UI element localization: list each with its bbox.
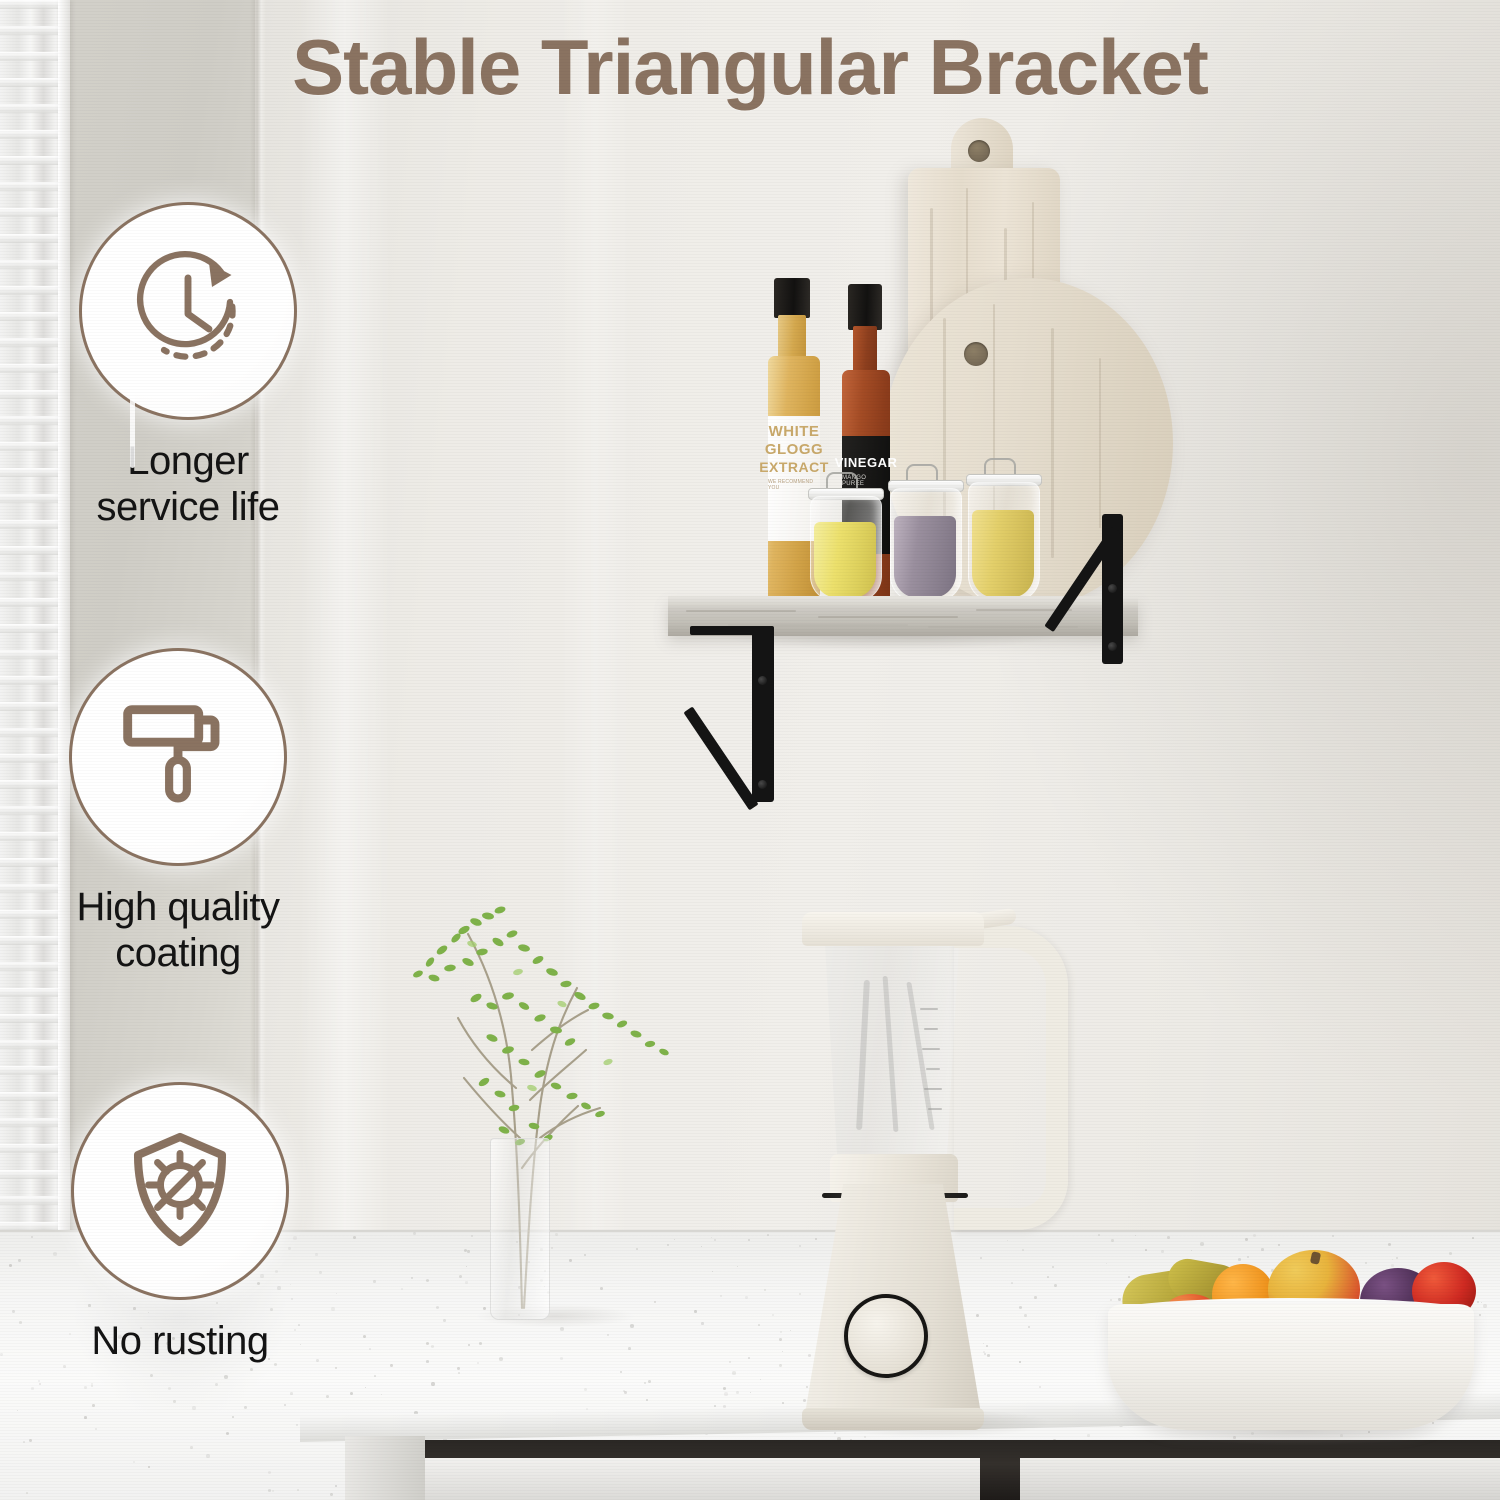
feature-label: No rusting (30, 1318, 330, 1364)
product-feature-image: Stable Triangular Bracket Longer service… (0, 0, 1500, 1500)
measure-tick (924, 1028, 938, 1030)
feature-label-line2: service life (38, 484, 338, 530)
cutting-board-round-hole (964, 342, 988, 366)
vase-highlight (130, 308, 135, 468)
feature-high-quality-coating: High quality coating (28, 648, 328, 977)
feature-label: High quality coating (28, 884, 328, 977)
paint-roller-icon (104, 683, 252, 831)
feature-label: Longer service life (38, 438, 338, 531)
shelf-bracket-left (690, 630, 790, 810)
feature-badge-circle (69, 648, 287, 866)
clock-arrow-icon (113, 236, 263, 386)
glass-vase (490, 1138, 550, 1320)
measure-tick (926, 1068, 940, 1070)
bottle-label-line1: WHITE (769, 424, 820, 439)
feature-badge-circle (71, 1082, 289, 1300)
bottle-label-line1: VINEGAR (835, 456, 898, 469)
feature-no-rusting: No rusting (30, 1082, 330, 1364)
fruit-bowl (1108, 1238, 1500, 1438)
measure-tick (922, 1048, 940, 1050)
blender-handle (954, 926, 1068, 1230)
measure-tick (928, 1108, 942, 1110)
cabinet-door (1020, 1458, 1500, 1500)
bowl-body (1108, 1304, 1474, 1430)
feature-label-line1: No rusting (30, 1318, 330, 1364)
feature-label-line1: High quality (28, 884, 328, 930)
blender-lid (802, 912, 984, 946)
cutting-board-hang-hole (968, 140, 990, 162)
page-title: Stable Triangular Bracket (0, 22, 1500, 113)
cabinet-side-panel (345, 1436, 425, 1500)
feature-badge-circle (79, 202, 297, 420)
feature-longer-service-life: Longer service life (38, 202, 338, 531)
feature-label-line1: Longer (38, 438, 338, 484)
blender-foot (802, 1408, 984, 1430)
window-frame (58, 0, 70, 1268)
bottle-label-line3: EXTRACT (759, 460, 829, 474)
blender (790, 896, 1060, 1448)
shield-anti-rust-icon (105, 1116, 255, 1266)
feature-label-line2: coating (28, 930, 328, 976)
cabinet-door (420, 1458, 980, 1500)
floating-wall-shelf: WHITE GLOGG EXTRACT WE RECOMMEND YOU VIN… (668, 160, 1188, 800)
branch-vase (372, 838, 702, 1318)
measure-tick (920, 1008, 938, 1010)
measure-tick (924, 1088, 942, 1090)
bottle-label-line2: GLOGG (765, 442, 823, 457)
shelf-bracket-right (1066, 514, 1166, 694)
blender-control-knob[interactable] (844, 1294, 928, 1378)
